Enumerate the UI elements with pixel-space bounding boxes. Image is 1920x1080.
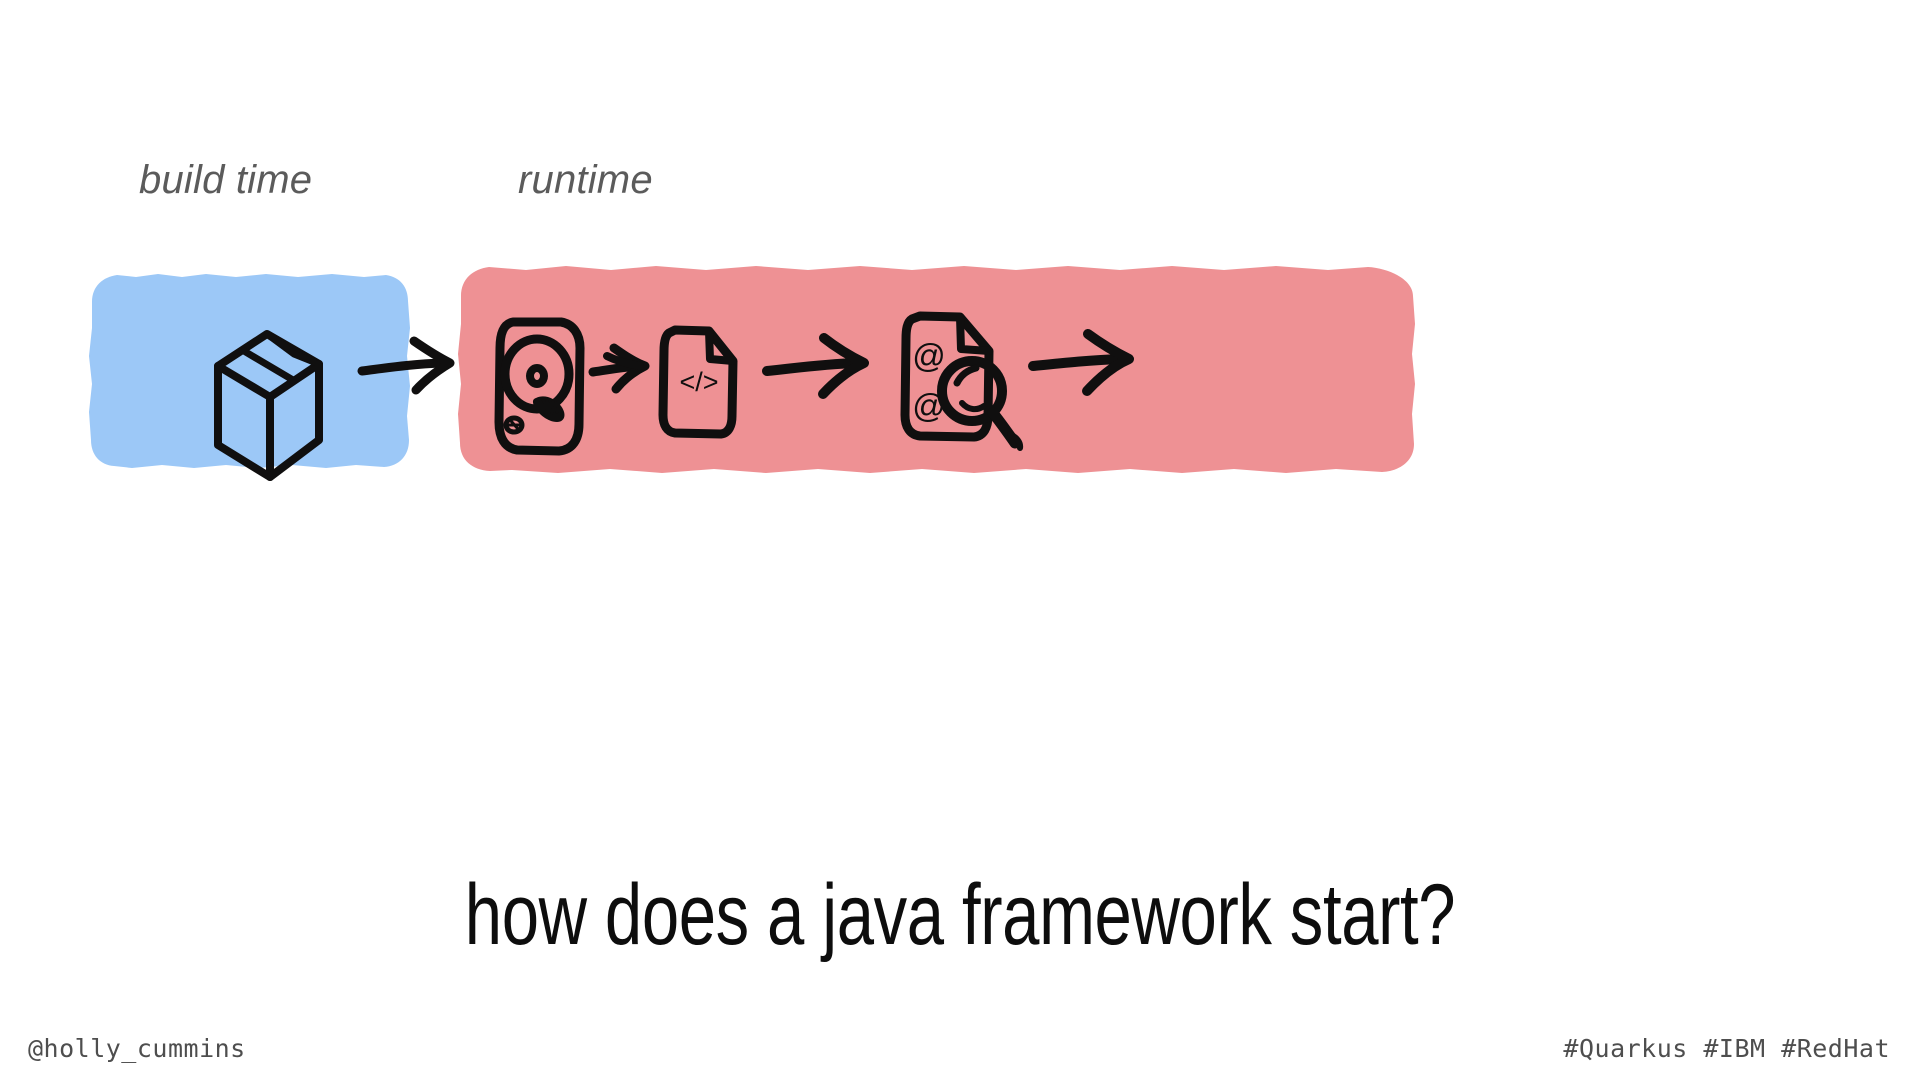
page-title: how does a java framework start? <box>211 872 1709 958</box>
runtime-box-shape <box>458 266 1415 473</box>
build-time-box-shape <box>89 274 410 468</box>
phase-label-build-time: build time <box>139 158 312 203</box>
footer-hashtags: #Quarkus #IBM #RedHat <box>1563 1034 1890 1063</box>
build-time-phase-box <box>86 270 413 472</box>
runtime-phase-box <box>456 262 1418 476</box>
phase-label-runtime: runtime <box>518 158 653 203</box>
footer-social-handle: @holly_cummins <box>28 1034 246 1063</box>
